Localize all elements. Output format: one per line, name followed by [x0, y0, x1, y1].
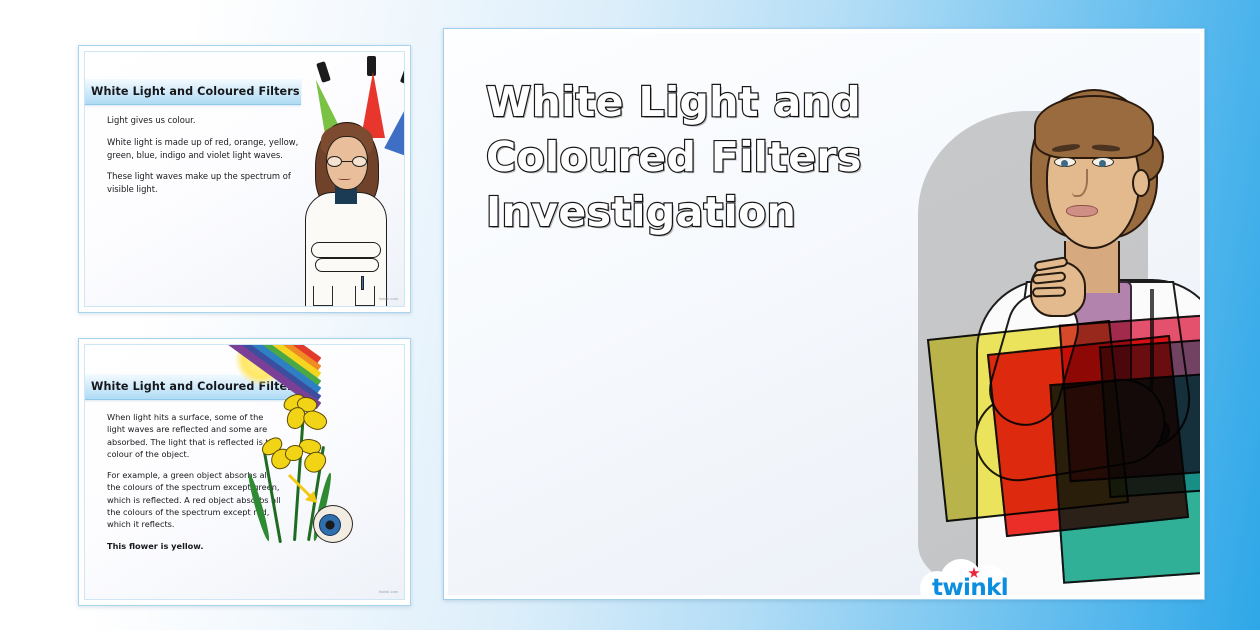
resource-preview-stage: White Light and Coloured Filters Light g…: [0, 0, 1260, 630]
thumbnail-1-footer: twinkl.com: [379, 297, 398, 301]
title-line-1: White Light and: [486, 75, 916, 130]
thumbnail-1-title: White Light and Coloured Filters: [91, 85, 300, 98]
thumbnail-1-paragraph-1: Light gives us colour.: [107, 114, 307, 127]
thumbnail-1-header-bar: White Light and Coloured Filters: [84, 78, 301, 105]
slide-thumbnail-1[interactable]: White Light and Coloured Filters Light g…: [78, 45, 411, 313]
thumbnail-1-paragraph-2: White light is made up of red, orange, y…: [107, 136, 307, 162]
title-line-2: Coloured Filters: [486, 130, 916, 185]
thumbnail-2-footer: twinkl.com: [379, 590, 398, 594]
thumbnail-1-paragraph-3: These light waves make up the spectrum o…: [107, 170, 307, 196]
main-title-slide[interactable]: White Light and Coloured Filters Investi…: [443, 28, 1205, 600]
eyeball-icon: [313, 505, 353, 543]
thumbnail-1-inner: White Light and Coloured Filters Light g…: [84, 51, 405, 307]
thumbnail-2-inner: White Light and Coloured Filters When li…: [84, 344, 405, 600]
title-line-3: Investigation: [486, 185, 916, 240]
scientist-girl-illustration: [299, 114, 393, 307]
coloured-filters-illustration: [936, 319, 1200, 595]
yellow-arrow-icon: [287, 473, 321, 507]
slide-thumbnail-2[interactable]: White Light and Coloured Filters When li…: [78, 338, 411, 606]
main-slide-inner: White Light and Coloured Filters Investi…: [448, 33, 1200, 595]
teal-filter: [1049, 370, 1200, 583]
yellow-iris-flower-illustration: [253, 387, 363, 547]
twinkl-cloud-logo: twinkl: [920, 557, 1026, 595]
twinkl-wordmark: twinkl: [932, 575, 1008, 595]
page-title: White Light and Coloured Filters Investi…: [486, 75, 916, 240]
thumbnail-1-body: Light gives us colour. White light is ma…: [107, 114, 307, 205]
